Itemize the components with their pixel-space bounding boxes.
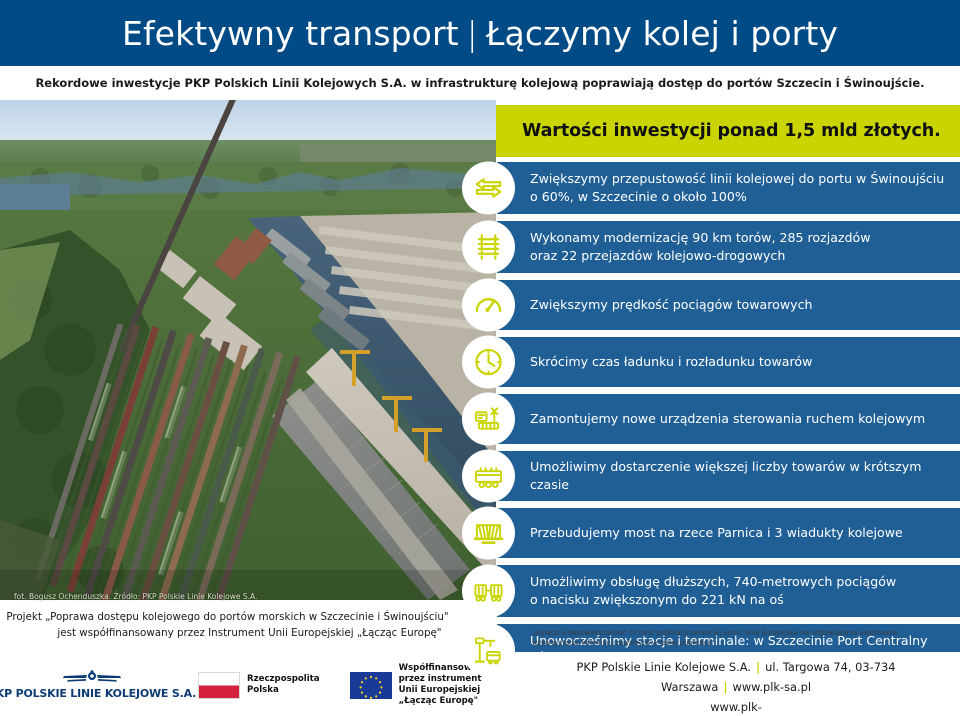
clock-icon: [462, 336, 515, 389]
list-item: Zwiększymy prędkość pociągów towarowych: [462, 280, 960, 330]
port-crane-icon: [462, 624, 515, 677]
poland-line-2: Polska: [247, 685, 320, 696]
list-item: Umożliwimy dostarczenie większej liczby …: [462, 451, 960, 501]
benefit-bar: Umożliwimy obsługę dłuższych, 740-metrow…: [497, 565, 960, 617]
benefit-bar: Wykonamy modernizację 90 km torów, 285 r…: [497, 221, 960, 273]
infographic-poster: Efektywny transport|Łączymy kolej i port…: [0, 0, 960, 716]
disclaimer-line-1: „Wyłączną odpowiedzialność za treść publ…: [532, 628, 952, 638]
benefit-line-1: Umożliwimy dostarczenie większej liczby …: [530, 458, 952, 495]
eu-line-2: Unii Europejskiej „Łącząc Europę": [399, 685, 490, 707]
benefit-text: Skrócimy czas ładunku i rozładunku towar…: [497, 353, 820, 371]
benefit-bar: Zamontujemy nowe urządzenia sterowania r…: [497, 394, 960, 444]
project-funding-text: Projekt „Poprawa dostępu kolejowego do p…: [6, 610, 448, 642]
freight-wagon-icon: [462, 450, 515, 503]
investment-value-text: Wartości inwestycji ponad 1,5 mld złotyc…: [496, 121, 941, 141]
list-item: Umożliwimy obsługę dłuższych, 740-metrow…: [462, 565, 960, 617]
poland-line-1: Rzeczpospolita: [247, 674, 320, 685]
page-title-right: Łączymy kolej i porty: [486, 14, 838, 53]
contact-row-1: PKP Polskie Linie Kolejowe S.A.|ul. Targ…: [520, 658, 952, 698]
benefit-line-2: o 60%, w Szczecinie o około 100%: [530, 188, 944, 206]
subtitle-bar: Rekordowe inwestycje PKP Polskich Linii …: [0, 66, 960, 100]
plk-logo-text: PKP POLSKIE LINIE KOLEJOWE S.A.: [0, 687, 196, 700]
benefit-line-2: oraz 22 przejazdów kolejowo-drogowych: [530, 247, 871, 265]
benefit-bar: Skrócimy czas ładunku i rozładunku towar…: [497, 337, 960, 387]
investment-value-banner: Wartości inwestycji ponad 1,5 mld złotyc…: [496, 105, 960, 157]
eu-flag-icon: [350, 672, 392, 699]
list-item: Skrócimy czas ładunku i rozładunku towar…: [462, 337, 960, 387]
benefit-text: Zamontujemy nowe urządzenia sterowania r…: [497, 410, 933, 428]
eu-disclaimer: „Wyłączną odpowiedzialność za treść publ…: [532, 628, 952, 648]
benefit-bar: Przebudujemy most na rzece Parnica i 3 w…: [497, 508, 960, 558]
poland-logo: Rzeczpospolita Polska: [198, 672, 320, 699]
eu-stars-icon: [350, 672, 392, 699]
eu-logo: Współfinansowane przez instrument Unii E…: [350, 663, 490, 708]
poland-logo-text: Rzeczpospolita Polska: [247, 674, 320, 696]
benefit-bar: Zwiększymy prędkość pociągów towarowych: [497, 280, 960, 330]
bridge-icon: [462, 507, 515, 560]
website-plk-sa[interactable]: www.plk-sa.pl: [733, 680, 812, 694]
contact-divider: |: [718, 680, 732, 694]
poland-flag-icon: [198, 672, 240, 699]
benefit-line-1: Wykonamy modernizację 90 km torów, 285 r…: [530, 229, 871, 247]
benefit-bar: Umożliwimy dostarczenie większej liczby …: [497, 451, 960, 501]
benefits-list: Zwiększymy przepustowość linii kolejowej…: [462, 162, 960, 683]
footer-logos: PKP POLSKIE LINIE KOLEJOWE S.A. Rzeczpos…: [0, 656, 470, 714]
speedometer-icon: [462, 279, 515, 332]
title-separator: |: [459, 14, 486, 53]
benefit-text: Zwiększymy prędkość pociągów towarowych: [497, 296, 821, 314]
plk-logo: PKP POLSKIE LINIE KOLEJOWE S.A.: [12, 670, 172, 700]
benefit-text: Wykonamy modernizację 90 km torów, 285 r…: [497, 229, 879, 266]
contact-row-2: www.plk-inwestycje.pl|www.portalpasazera…: [520, 698, 952, 716]
signalling-device-icon: [462, 393, 515, 446]
benefit-line-1: Przebudujemy most na rzece Parnica i 3 w…: [530, 524, 903, 542]
contact-info: PKP Polskie Linie Kolejowe S.A.|ul. Targ…: [520, 658, 952, 716]
list-item: Zamontujemy nowe urządzenia sterowania r…: [462, 394, 960, 444]
list-item: Wykonamy modernizację 90 km torów, 285 r…: [462, 221, 960, 273]
two-way-arrows-icon: [462, 162, 515, 215]
website-plk-inwestycje[interactable]: www.plk-inwestycje.pl: [527, 700, 762, 716]
benefit-line-1: Skrócimy czas ładunku i rozładunku towar…: [530, 353, 812, 371]
benefit-bar: Zwiększymy przepustowość linii kolejowej…: [497, 162, 960, 214]
benefit-line-1: Zwiększymy prędkość pociągów towarowych: [530, 296, 813, 314]
benefit-line-1: Umożliwimy obsługę dłuższych, 740-metrow…: [530, 573, 896, 591]
plk-winged-wheel-icon: [60, 670, 124, 686]
aerial-port-photo: [0, 100, 496, 600]
photo-credit: fot. Bogusz Ochenduszka. Źródło: PKP Pol…: [14, 592, 257, 601]
benefit-text: Umożliwimy dostarczenie większej liczby …: [497, 458, 960, 495]
contact-divider: |: [751, 660, 765, 674]
company-name: PKP Polskie Linie Kolejowe S.A.: [577, 660, 751, 674]
list-item: Przebudujemy most na rzece Parnica i 3 w…: [462, 508, 960, 558]
project-funding-card: Projekt „Poprawa dostępu kolejowego do p…: [0, 600, 455, 652]
benefit-text: Umożliwimy obsługę dłuższych, 740-metrow…: [497, 573, 904, 610]
benefit-text: Zwiększymy przepustowość linii kolejowej…: [497, 170, 952, 207]
page-title-left: Efektywny transport: [122, 14, 459, 53]
aerial-port-photo-illustration: [0, 100, 496, 600]
header-banner: Efektywny transport|Łączymy kolej i port…: [0, 0, 960, 66]
subtitle-text: Rekordowe inwestycje PKP Polskich Linii …: [35, 76, 924, 90]
list-item: Zwiększymy przepustowość linii kolejowej…: [462, 162, 960, 214]
disclaimer-line-2: wykorzystanie informacji zawartych w tak…: [532, 638, 952, 648]
railway-track-icon: [462, 221, 515, 274]
benefit-line-1: Zamontujemy nowe urządzenia sterowania r…: [530, 410, 925, 428]
project-line-2: jest współfinansowany przez Instrument U…: [6, 626, 448, 642]
project-line-1: Projekt „Poprawa dostępu kolejowego do p…: [6, 610, 448, 626]
page-title: Efektywny transport|Łączymy kolej i port…: [122, 14, 838, 53]
benefit-text: Przebudujemy most na rzece Parnica i 3 w…: [497, 524, 911, 542]
benefit-line-1: Zwiększymy przepustowość linii kolejowej…: [530, 170, 944, 188]
benefit-line-2: o nacisku zwiększonym do 221 kN na oś: [530, 591, 896, 609]
two-wagons-icon: [462, 565, 515, 618]
